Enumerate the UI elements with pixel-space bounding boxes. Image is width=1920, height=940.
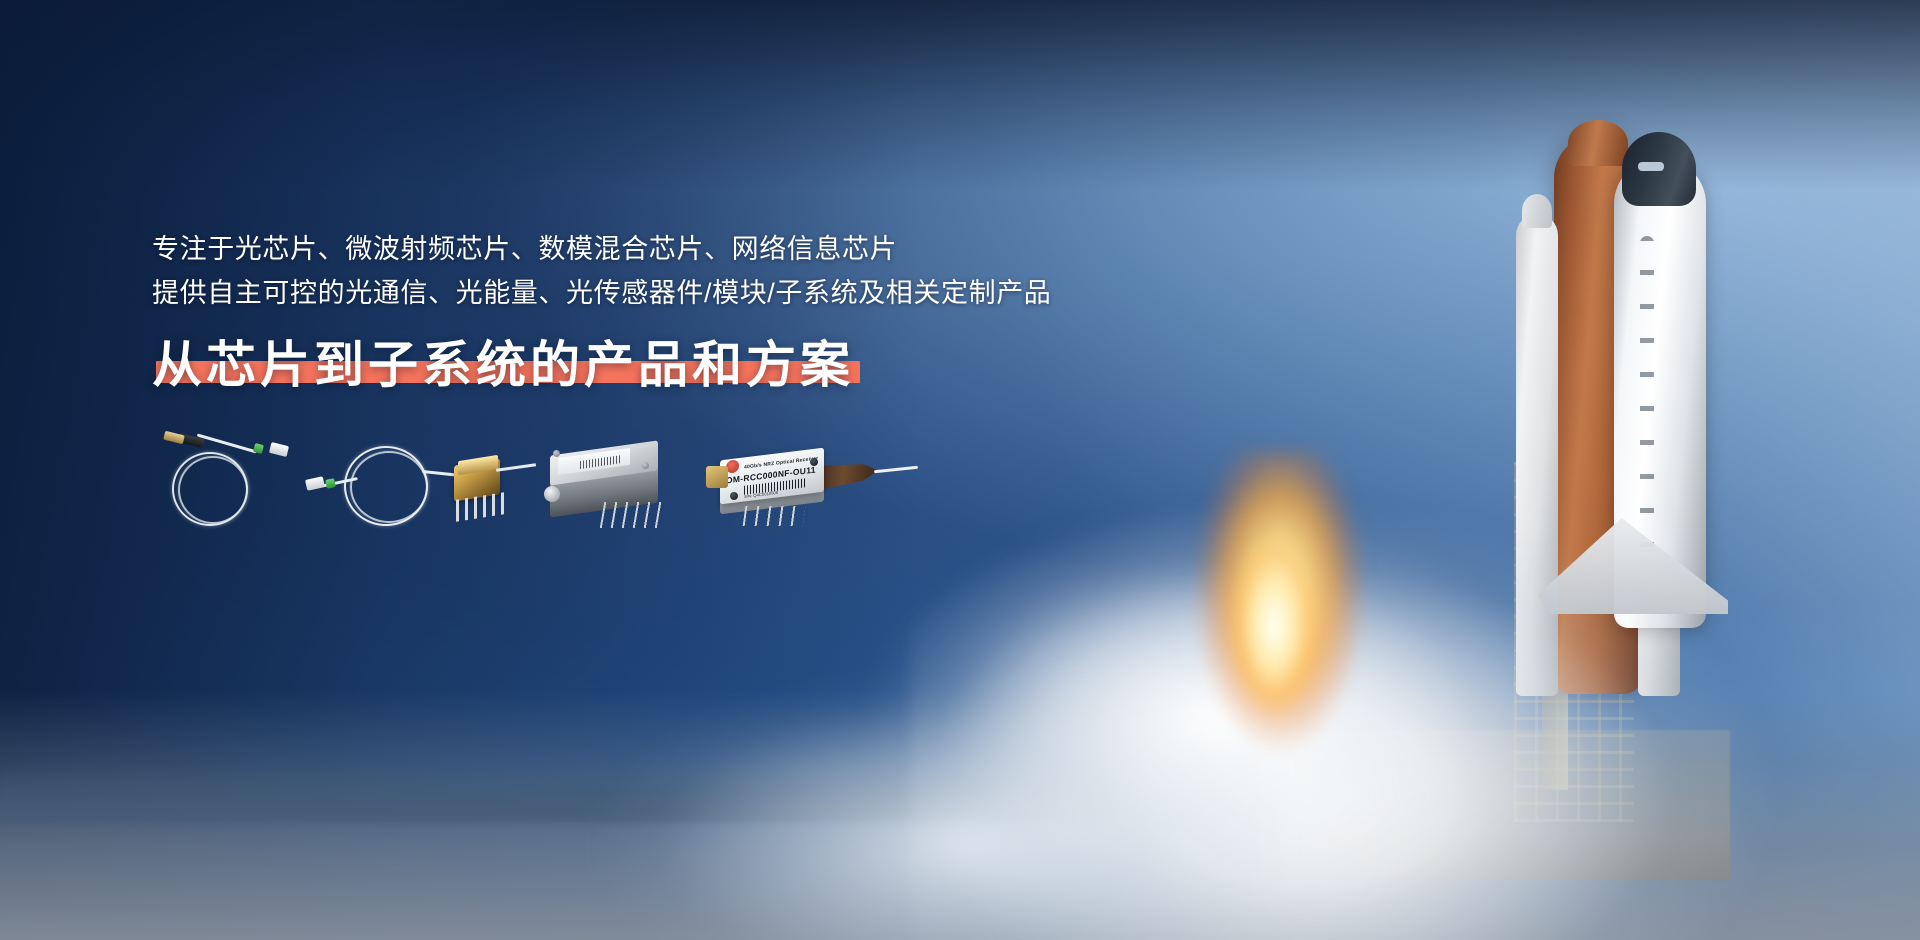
fiber-coil-inner	[178, 456, 248, 524]
product-image-strip: 40Gb/s NRZ Optical Receiver OM-RCC000NF-…	[150, 430, 910, 540]
fiber-connector-green	[325, 478, 336, 489]
fiber-connector-white	[269, 442, 289, 457]
receiver-screw-left	[730, 492, 738, 500]
booster-nose-left	[1522, 194, 1552, 228]
lede-line-2: 提供自主可控的光通信、光能量、光传感器件/模块/子系统及相关定制产品	[152, 272, 1132, 316]
banner-headline: 从芯片到子系统的产品和方案	[152, 337, 854, 393]
module-sma-connector	[544, 486, 560, 502]
hero-banner: 专注于光芯片、微波射频芯片、数模混合芯片、网络信息芯片 提供自主可控的光通信、光…	[0, 0, 1920, 940]
headline-wrapper: 从芯片到子系统的产品和方案	[152, 337, 854, 393]
smoke-cloud	[520, 640, 1280, 940]
module-screw-top-right	[642, 462, 649, 469]
external-tank-nose	[1568, 120, 1628, 166]
product-butterfly-package-laser-diode	[446, 448, 536, 526]
fiber-connector-white	[305, 476, 325, 491]
receiver-pin-row	[743, 506, 806, 526]
receiver-screw-right	[810, 458, 818, 466]
receiver-fiber-boot	[822, 459, 878, 490]
module-pin-row	[600, 502, 667, 528]
fiber-connector-green	[253, 443, 264, 454]
butterfly-package-pigtail	[496, 463, 536, 471]
receiver-rf-connector	[706, 466, 728, 488]
orbiter-cockpit-window	[1638, 162, 1664, 171]
engine-flame-core	[1228, 540, 1320, 730]
banner-copy: 专注于光芯片、微波射频芯片、数模混合芯片、网络信息芯片 提供自主可控的光通信、光…	[152, 228, 1132, 393]
fiber-coil-inner	[350, 451, 428, 523]
product-rf-optical-module-metal-housing	[550, 442, 690, 530]
fiber-lead	[197, 434, 257, 453]
product-optical-receiver-module: 40Gb/s NRZ Optical Receiver OM-RCC000NF-…	[710, 436, 910, 534]
module-screw-top-left	[553, 450, 560, 457]
lede-line-1: 专注于光芯片、微波射频芯片、数模混合芯片、网络信息芯片	[152, 228, 1132, 272]
product-fiber-pigtail-assembly-coiled	[158, 430, 308, 530]
